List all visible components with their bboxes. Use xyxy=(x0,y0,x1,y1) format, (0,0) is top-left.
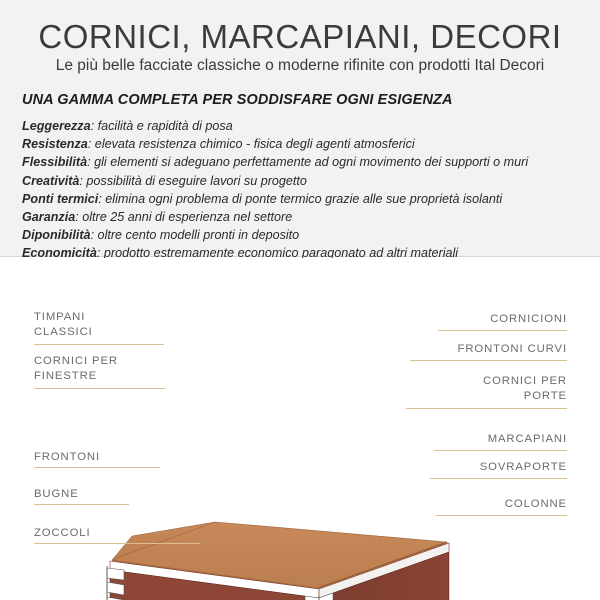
callout-line-1: CORNICI PER xyxy=(367,374,567,389)
feature-description: : facilità e rapidità di posa xyxy=(91,119,233,133)
feature-term: Flessibilità xyxy=(22,155,87,169)
leader-line-bugne xyxy=(34,504,129,505)
feature-description: : oltre 25 anni di esperienza nel settor… xyxy=(75,210,292,224)
page-title: CORNICI, MARCAPIANI, DECORI xyxy=(0,18,600,56)
features-block: UNA GAMMA COMPLETA PER SODDISFARE OGNI E… xyxy=(22,92,582,263)
feature-term: Ponti termici xyxy=(22,192,98,206)
feature-term: Leggerezza xyxy=(22,119,91,133)
leader-line-colonne xyxy=(436,515,567,516)
feature-description: : elimina ogni problema di ponte termico… xyxy=(98,192,502,206)
leader-line-frontoni xyxy=(34,467,160,468)
leader-line-sovraporte xyxy=(430,478,567,479)
leader-line-cornici-per-finestre xyxy=(34,388,165,389)
callout-line-2: PORTE xyxy=(367,389,567,404)
callout-line-1: FRONTONI CURVI xyxy=(347,342,567,357)
callout-line-1: FRONTONI xyxy=(34,450,100,465)
feature-item: Leggerezza: facilità e rapidità di posa xyxy=(22,117,582,135)
leader-line-cornici-per-porte xyxy=(406,408,567,409)
callout-right-cornicioni: CORNICIONI xyxy=(367,312,567,327)
callout-left-cornici-per-finestre: CORNICI PER FINESTRE xyxy=(34,354,118,383)
feature-term: Diponibilità xyxy=(22,228,91,242)
leader-line-marcapiani xyxy=(434,450,567,451)
feature-item: Ponti termici: elimina ogni problema di … xyxy=(22,190,582,208)
feature-item: Flessibilità: gli elementi si adeguano p… xyxy=(22,153,582,171)
feature-item: Resistenza: elevata resistenza chimico -… xyxy=(22,135,582,153)
callout-line-2: CLASSICI xyxy=(34,325,93,340)
leader-line-zoccoli xyxy=(34,543,200,544)
features-heading: UNA GAMMA COMPLETA PER SODDISFARE OGNI E… xyxy=(22,92,582,108)
callout-left-zoccoli: ZOCCOLI xyxy=(34,526,91,541)
callout-line-2: FINESTRE xyxy=(34,369,118,384)
leader-line-timpani-classici xyxy=(34,344,164,345)
feature-item: Diponibilità: oltre cento modelli pronti… xyxy=(22,226,582,244)
feature-term: Garanzia xyxy=(22,210,75,224)
callout-line-1: CORNICIONI xyxy=(367,312,567,327)
feature-term: Resistenza xyxy=(22,137,88,151)
callout-line-1: MARCAPIANI xyxy=(367,432,567,447)
callout-line-1: CORNICI PER xyxy=(34,354,118,369)
feature-item: Creatività: possibilità di eseguire lavo… xyxy=(22,172,582,190)
callout-line-1: TIMPANI xyxy=(34,310,93,325)
callout-right-cornici-per-porte: CORNICI PER PORTE xyxy=(367,374,567,403)
feature-description: : gli elementi si adeguano perfettamente… xyxy=(87,155,528,169)
header-panel: CORNICI, MARCAPIANI, DECORI Le più belle… xyxy=(0,0,600,257)
callout-left-bugne: BUGNE xyxy=(34,487,79,502)
callout-line-1: ZOCCOLI xyxy=(34,526,91,541)
callout-left-frontoni: FRONTONI xyxy=(34,450,100,465)
feature-item: Garanzia: oltre 25 anni di esperienza ne… xyxy=(22,208,582,226)
leader-line-frontoni-curvi xyxy=(410,360,567,361)
callout-right-sovraporte: SOVRAPORTE xyxy=(367,460,567,475)
callout-right-colonne: COLONNE xyxy=(367,497,567,512)
callout-right-marcapiani: MARCAPIANI xyxy=(367,432,567,447)
page-subtitle: Le più belle facciate classiche o modern… xyxy=(0,57,600,75)
feature-description: : elevata resistenza chimico - fisica de… xyxy=(88,137,415,151)
building-illustration-panel: TIMPANI CLASSICI CORNICI PER FINESTRE FR… xyxy=(0,258,600,600)
leader-line-cornicioni xyxy=(438,330,567,331)
callout-line-1: SOVRAPORTE xyxy=(367,460,567,475)
callout-left-timpani-classici: TIMPANI CLASSICI xyxy=(34,310,93,339)
callout-right-frontoni-curvi: FRONTONI CURVI xyxy=(347,342,567,357)
feature-description: : possibilità di eseguire lavori su prog… xyxy=(79,174,307,188)
feature-term: Creatività xyxy=(22,174,79,188)
callout-line-1: COLONNE xyxy=(367,497,567,512)
feature-description: : oltre cento modelli pronti in deposito xyxy=(91,228,300,242)
callout-line-1: BUGNE xyxy=(34,487,79,502)
